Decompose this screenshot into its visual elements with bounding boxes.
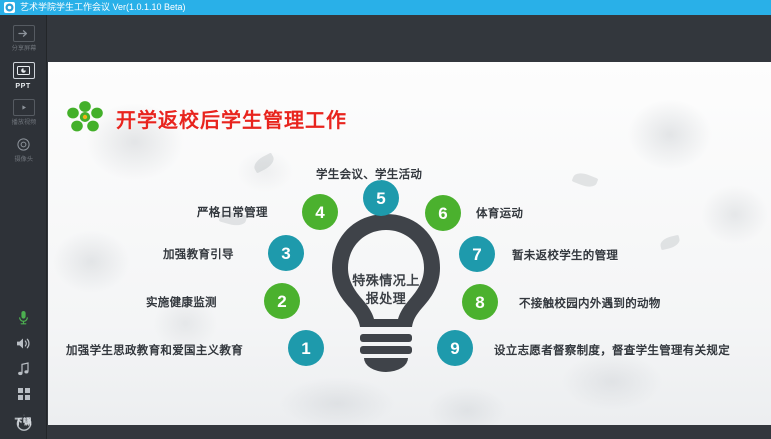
bubble-8[interactable]: 8	[462, 284, 498, 320]
bubble-9[interactable]: 9	[437, 330, 473, 366]
label-7: 暂未返校学生的管理	[512, 247, 618, 263]
camera-icon	[13, 136, 35, 153]
bubble-4[interactable]: 4	[302, 194, 338, 230]
left-sidebar: 分享屏幕 PPT 播放视频	[0, 15, 47, 439]
label-8: 不接触校园内外遇到的动物	[519, 295, 661, 311]
slide-title-row: 开学返校后学生管理工作	[66, 100, 347, 136]
label-9: 设立志愿者督察制度，督查学生管理有关规定	[494, 342, 730, 358]
speaker-icon	[16, 337, 32, 350]
bubble-4-number: 4	[315, 204, 324, 221]
bubble-3-number: 3	[281, 245, 290, 262]
bubble-1-number: 1	[301, 340, 310, 357]
speaker-button[interactable]	[0, 331, 47, 356]
label-3: 加强教育引导	[163, 246, 234, 262]
lightbulb-icon: 特殊情况上 报处理	[316, 210, 456, 378]
bubble-1[interactable]: 1	[288, 330, 324, 366]
green-flower-icon	[66, 100, 104, 136]
bubble-2[interactable]: 2	[264, 283, 300, 319]
sidebar-item-camera[interactable]: 摄像头	[0, 132, 47, 169]
sidebar-label-camera: 摄像头	[14, 156, 33, 164]
leaf-decor-icon	[572, 170, 599, 190]
leaf-decor-icon	[251, 153, 276, 174]
share-screen-icon	[13, 25, 35, 42]
music-note-icon	[17, 362, 30, 376]
label-2: 实施健康监测	[146, 294, 217, 310]
fullscreen-grid-icon	[18, 388, 30, 400]
bubble-5[interactable]: 5	[363, 180, 399, 216]
label-6: 体育运动	[476, 205, 523, 221]
slide-canvas[interactable]: 开学返校后学生管理工作 特殊情况上 报处理 1 加强学生思政教育和爱国主义教育 …	[48, 62, 771, 425]
sidebar-item-share-screen[interactable]: 分享屏幕	[0, 21, 47, 58]
sidebar-label-ppt: PPT	[16, 82, 31, 90]
bubble-8-number: 8	[475, 294, 484, 311]
bubble-6-number: 6	[438, 205, 447, 222]
label-5: 学生会议、学生活动	[316, 166, 422, 182]
title-bar: 艺术学院学生工作会议 Ver(1.0.1.10 Beta)	[0, 0, 771, 15]
bulb-text-line1: 特殊情况上	[316, 272, 456, 290]
microphone-icon	[17, 310, 30, 325]
sidebar-top-group: 分享屏幕 PPT 播放视频	[0, 15, 46, 169]
bottom-bar	[48, 425, 771, 439]
bubble-7-number: 7	[472, 246, 481, 263]
play-video-icon	[13, 99, 35, 116]
bulb-text-line2: 报处理	[316, 290, 456, 308]
bubble-7[interactable]: 7	[459, 236, 495, 272]
bulb-center-text: 特殊情况上 报处理	[316, 272, 456, 308]
window-title: 艺术学院学生工作会议 Ver(1.0.1.10 Beta)	[20, 2, 186, 13]
app-window: 艺术学院学生工作会议 Ver(1.0.1.10 Beta) 分享屏幕	[0, 0, 771, 439]
sidebar-bottom-group: 下课	[0, 304, 47, 439]
bubble-2-number: 2	[277, 293, 286, 310]
label-4: 严格日常管理	[197, 204, 268, 220]
ppt-icon	[13, 62, 35, 79]
app-logo-icon	[4, 2, 15, 13]
sidebar-label-share-screen: 分享屏幕	[11, 45, 36, 53]
music-button[interactable]	[0, 356, 47, 382]
end-class-label: 下课	[15, 416, 33, 427]
bubble-6[interactable]: 6	[425, 195, 461, 231]
sidebar-item-ppt[interactable]: PPT	[0, 58, 47, 95]
leaf-decor-icon	[659, 235, 681, 251]
microphone-button[interactable]	[0, 304, 47, 331]
bubble-3[interactable]: 3	[268, 235, 304, 271]
end-class-button[interactable]: 下课	[0, 406, 47, 435]
slide-title: 开学返校后学生管理工作	[116, 104, 347, 133]
sidebar-item-play-video[interactable]: 播放视频	[0, 95, 47, 132]
sidebar-label-play-video: 播放视频	[11, 119, 36, 127]
bubble-9-number: 9	[450, 340, 459, 357]
bubble-5-number: 5	[376, 190, 385, 207]
fullscreen-button[interactable]	[0, 382, 47, 406]
label-1: 加强学生思政教育和爱国主义教育	[66, 342, 243, 358]
